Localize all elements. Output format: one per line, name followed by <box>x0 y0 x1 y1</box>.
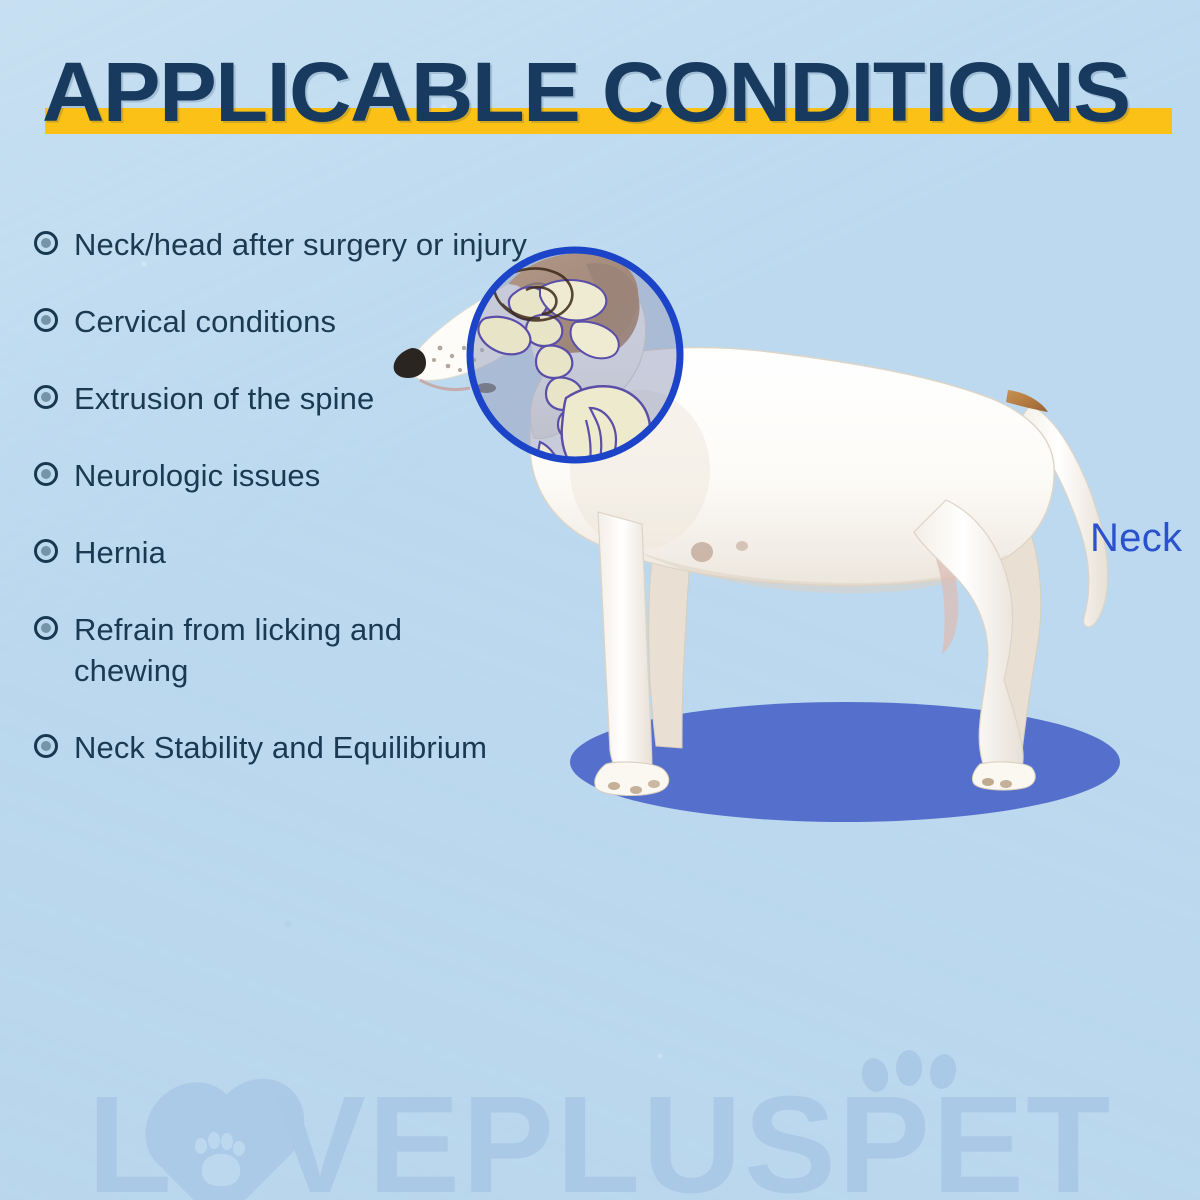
list-item-label: Refrain from licking and chewing <box>74 609 414 691</box>
list-item: Neck Stability and Equilibrium <box>34 727 654 768</box>
radio-bullet-icon <box>34 385 58 409</box>
heart-with-paw-icon <box>168 1102 280 1200</box>
list-item-label: Neurologic issues <box>74 455 320 496</box>
paw-toes-icon <box>862 1048 982 1092</box>
radio-bullet-icon <box>34 734 58 758</box>
list-item-label: Neck Stability and Equilibrium <box>74 727 487 768</box>
list-item-label: Hernia <box>74 532 166 573</box>
watermark-text: L VEPLUSPET <box>88 1076 1113 1200</box>
radio-bullet-icon <box>34 308 58 332</box>
page-title-block: APPLICABLE CONDITIONS <box>42 44 1172 144</box>
neck-callout-label: Neck <box>1090 516 1182 561</box>
poster-canvas: L VEPLUSPET APPLICABLE CONDITIONS Neck/h… <box>0 0 1200 1200</box>
list-item: Neck/head after surgery or injury <box>34 224 654 265</box>
radio-bullet-icon <box>34 539 58 563</box>
conditions-list: Neck/head after surgery or injury Cervic… <box>34 224 654 768</box>
watermark-text-left: L <box>88 1068 174 1200</box>
watermark-text-right: VEPLUSPET <box>274 1068 1113 1200</box>
list-item: Refrain from licking and chewing <box>34 609 654 691</box>
brand-watermark: L VEPLUSPET <box>0 1076 1200 1200</box>
list-item-label: Cervical conditions <box>74 301 336 342</box>
list-item-label: Extrusion of the spine <box>74 378 374 419</box>
radio-bullet-icon <box>34 616 58 640</box>
dog-front-leg-far <box>649 560 690 748</box>
list-item: Hernia <box>34 532 654 573</box>
list-item: Neurologic issues <box>34 455 654 496</box>
list-item-label: Neck/head after surgery or injury <box>74 224 527 265</box>
radio-bullet-icon <box>34 231 58 255</box>
radio-bullet-icon <box>34 462 58 486</box>
list-item: Extrusion of the spine <box>34 378 654 419</box>
list-item: Cervical conditions <box>34 301 654 342</box>
page-title: APPLICABLE CONDITIONS <box>42 44 1130 140</box>
